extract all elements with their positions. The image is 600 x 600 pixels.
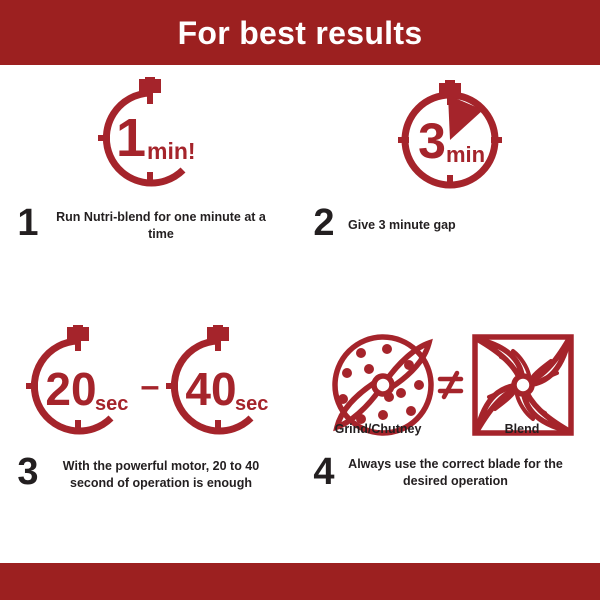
timer-3-min-icon: 3 min	[380, 78, 520, 198]
step-1-text: Run Nutri-blend for one minute at a time	[56, 205, 266, 242]
step-card-4: Grind/Chutney Blend 4 Always use the cor…	[300, 314, 600, 563]
step-2-artwork: 3 min	[300, 73, 600, 203]
step-3-caption: 3 With the powerful motor, 20 to 40 seco…	[0, 454, 300, 491]
step-2-caption: 2 Give 3 minute gap	[300, 205, 600, 241]
step-2-text: Give 3 minute gap	[348, 205, 548, 234]
poster-root: For best results 1	[0, 0, 600, 600]
timer-20-sec-icon: 20 sec	[26, 325, 128, 431]
page-title: For best results	[178, 17, 423, 49]
timer-40-sec-icon: 40 sec	[166, 325, 268, 431]
blade-labels-row: Grind/Chutney Blend	[300, 422, 600, 436]
step-3-text: With the powerful motor, 20 to 40 second…	[56, 454, 266, 491]
step-1-caption: 1 Run Nutri-blend for one minute at a ti…	[0, 205, 300, 242]
not-equal-icon	[440, 373, 461, 397]
timer-3-value: 3	[418, 113, 446, 169]
blend-blade-label: Blend	[472, 422, 572, 436]
timer-1-unit: min!	[147, 138, 196, 164]
timer-1-min-icon: 1 min!	[75, 77, 225, 199]
timer-1-value: 1	[116, 108, 146, 168]
step-card-1: 1 min! 1 Run Nutri-blend for one minute …	[0, 65, 300, 314]
step-2-number: 2	[300, 205, 348, 241]
step-4-number: 4	[300, 454, 348, 490]
step-card-3: 20 sec – 40 sec	[0, 314, 300, 563]
step-4-text: Always use the correct blade for the des…	[348, 454, 563, 489]
timer-40-value: 40	[185, 363, 236, 415]
range-separator: –	[141, 367, 160, 405]
timer-20-unit: sec	[95, 393, 128, 415]
step-1-number: 1	[0, 205, 56, 241]
blend-blade-icon	[475, 337, 571, 433]
step-1-artwork: 1 min!	[0, 73, 300, 203]
step-4-caption: 4 Always use the correct blade for the d…	[300, 454, 600, 490]
timer-40-unit: sec	[235, 393, 268, 415]
step-card-2: 3 min 2 Give 3 minute gap	[300, 65, 600, 314]
footer-banner	[0, 563, 600, 600]
step-3-number: 3	[0, 454, 56, 490]
timer-range-icon: 20 sec – 40 sec	[15, 325, 285, 445]
steps-grid: 1 min! 1 Run Nutri-blend for one minute …	[0, 65, 600, 563]
timer-3-unit: min	[446, 142, 485, 167]
timer-20-value: 20	[45, 363, 96, 415]
step-3-artwork: 20 sec – 40 sec	[0, 320, 300, 450]
grind-blade-label: Grind/Chutney	[328, 422, 428, 436]
header-banner: For best results	[0, 0, 600, 65]
